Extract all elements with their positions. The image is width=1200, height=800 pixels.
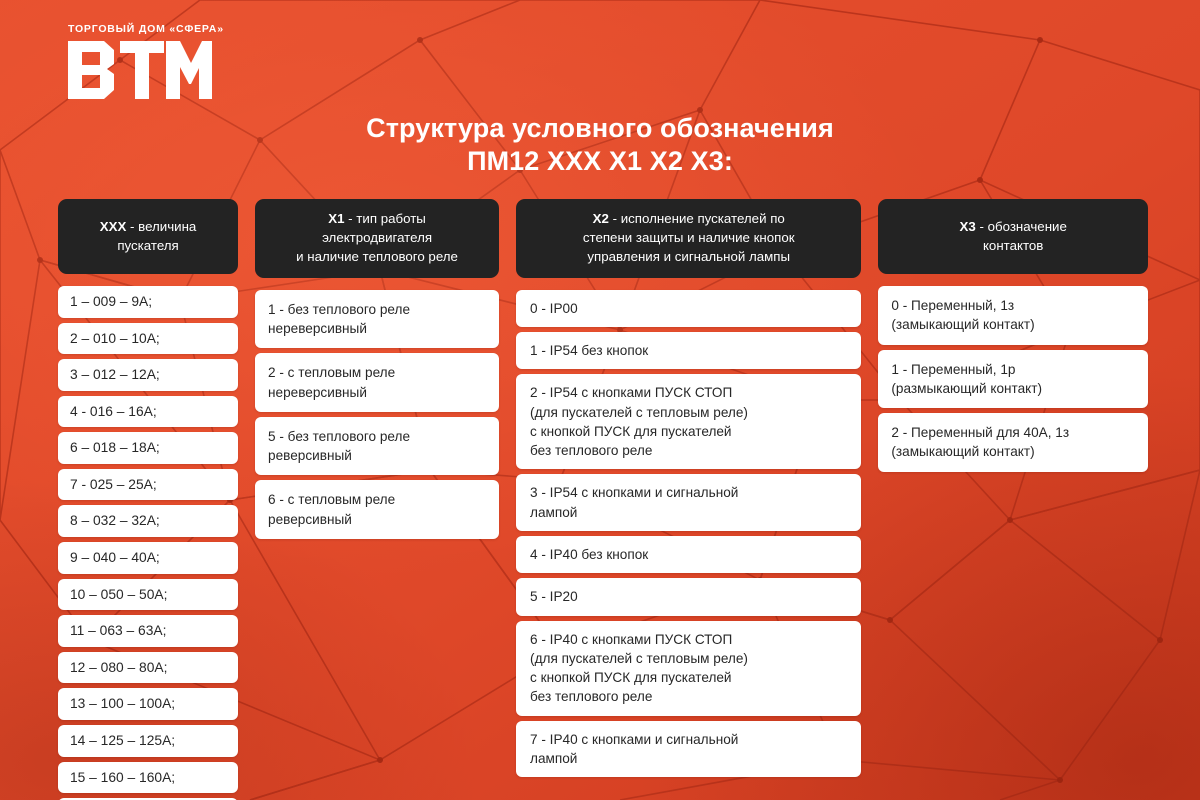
list-item[interactable]: 3 - IP54 с кнопками и сигнальной лампой (516, 474, 861, 531)
list-item[interactable]: 7 - IP40 с кнопками и сигнальной лампой (516, 721, 861, 778)
page-title-line-2: ПМ12 XXX X1 X2 X3: (250, 145, 950, 178)
list-item[interactable]: 3 – 012 – 12A; (58, 359, 238, 391)
list-item[interactable]: 6 - IP40 с кнопками ПУСК СТОП (для пуска… (516, 621, 861, 716)
list-item[interactable]: 2 - с тепловым реле нереверсивный (255, 353, 499, 412)
card-list-xxx: 1 – 009 – 9A; 2 – 010 – 10A; 3 – 012 – 1… (58, 286, 238, 800)
list-item[interactable]: 1 - без теплового реле нереверсивный (255, 290, 499, 349)
column-code-x3: X3 (960, 219, 976, 234)
column-header-text-xxx: - величина пускателя (117, 219, 196, 253)
card-list-x3: 0 - Переменный, 1з (замыкающий контакт) … (878, 286, 1148, 472)
list-item[interactable]: 6 – 018 – 18A; (58, 432, 238, 464)
column-header-x2: X2 - исполнение пускателей по степени за… (516, 199, 861, 278)
column-code-xxx: XXX (100, 219, 127, 234)
list-item[interactable]: 4 - 016 – 16A; (58, 396, 238, 428)
list-item[interactable]: 2 - IP54 с кнопками ПУСК СТОП (для пуска… (516, 374, 861, 469)
list-item[interactable]: 5 - IP20 (516, 578, 861, 615)
list-item[interactable]: 1 – 009 – 9A; (58, 286, 238, 318)
column-header-x1: X1 - тип работы электродвигателя и налич… (255, 199, 499, 278)
list-item[interactable]: 14 – 125 – 125A; (58, 725, 238, 757)
column-header-text-x1: - тип работы электродвигателя и наличие … (296, 211, 458, 264)
list-item[interactable]: 10 – 050 – 50A; (58, 579, 238, 611)
list-item[interactable]: 2 – 010 – 10A; (58, 323, 238, 355)
card-list-x2: 0 - IP00 1 - IP54 без кнопок 2 - IP54 с … (516, 290, 861, 778)
list-item[interactable]: 8 – 032 – 32A; (58, 505, 238, 537)
list-item[interactable]: 4 - IP40 без кнопок (516, 536, 861, 573)
brand-tagline: ТОРГОВЫЙ ДОМ «СФЕРА» (68, 24, 216, 35)
column-header-text-x2: - исполнение пускателей по степени защит… (583, 211, 795, 264)
list-item[interactable]: 2 - Переменный для 40А, 1з (замыкающий к… (878, 413, 1148, 472)
column-xxx: XXX - величина пускателя 1 – 009 – 9A; 2… (58, 199, 238, 800)
column-x2: X2 - исполнение пускателей по степени за… (516, 199, 861, 777)
card-list-x1: 1 - без теплового реле нереверсивный 2 -… (255, 290, 499, 539)
column-header-xxx: XXX - величина пускателя (58, 199, 238, 274)
list-item[interactable]: 9 – 040 – 40A; (58, 542, 238, 574)
designation-columns: XXX - величина пускателя 1 – 009 – 9A; 2… (58, 199, 1148, 800)
list-item[interactable]: 1 - Переменный, 1р (размыкающий контакт) (878, 350, 1148, 409)
btm-logo-mark (66, 39, 212, 101)
column-x3: X3 - обозначение контактов 0 - Переменны… (878, 199, 1148, 472)
list-item[interactable]: 12 – 080 – 80A; (58, 652, 238, 684)
list-item[interactable]: 0 - Переменный, 1з (замыкающий контакт) (878, 286, 1148, 345)
list-item[interactable]: 1 - IP54 без кнопок (516, 332, 861, 369)
list-item[interactable]: 15 – 160 – 160A; (58, 762, 238, 794)
column-code-x2: X2 (593, 211, 609, 226)
list-item[interactable]: 0 - IP00 (516, 290, 861, 327)
list-item[interactable]: 6 - с тепловым реле реверсивный (255, 480, 499, 539)
brand-logo: ТОРГОВЫЙ ДОМ «СФЕРА» (66, 24, 216, 101)
page-title-line-1: Структура условного обозначения (366, 113, 834, 143)
list-item[interactable]: 5 - без теплового реле реверсивный (255, 417, 499, 476)
page-title: Структура условного обозначения ПМ12 XXX… (250, 112, 950, 178)
column-code-x1: X1 (328, 211, 344, 226)
list-item[interactable]: 11 – 063 – 63A; (58, 615, 238, 647)
column-x1: X1 - тип работы электродвигателя и налич… (255, 199, 499, 539)
column-header-x3: X3 - обозначение контактов (878, 199, 1148, 274)
list-item[interactable]: 7 - 025 – 25A; (58, 469, 238, 501)
column-header-text-x3: - обозначение контактов (976, 219, 1067, 253)
list-item[interactable]: 13 – 100 – 100A; (58, 688, 238, 720)
